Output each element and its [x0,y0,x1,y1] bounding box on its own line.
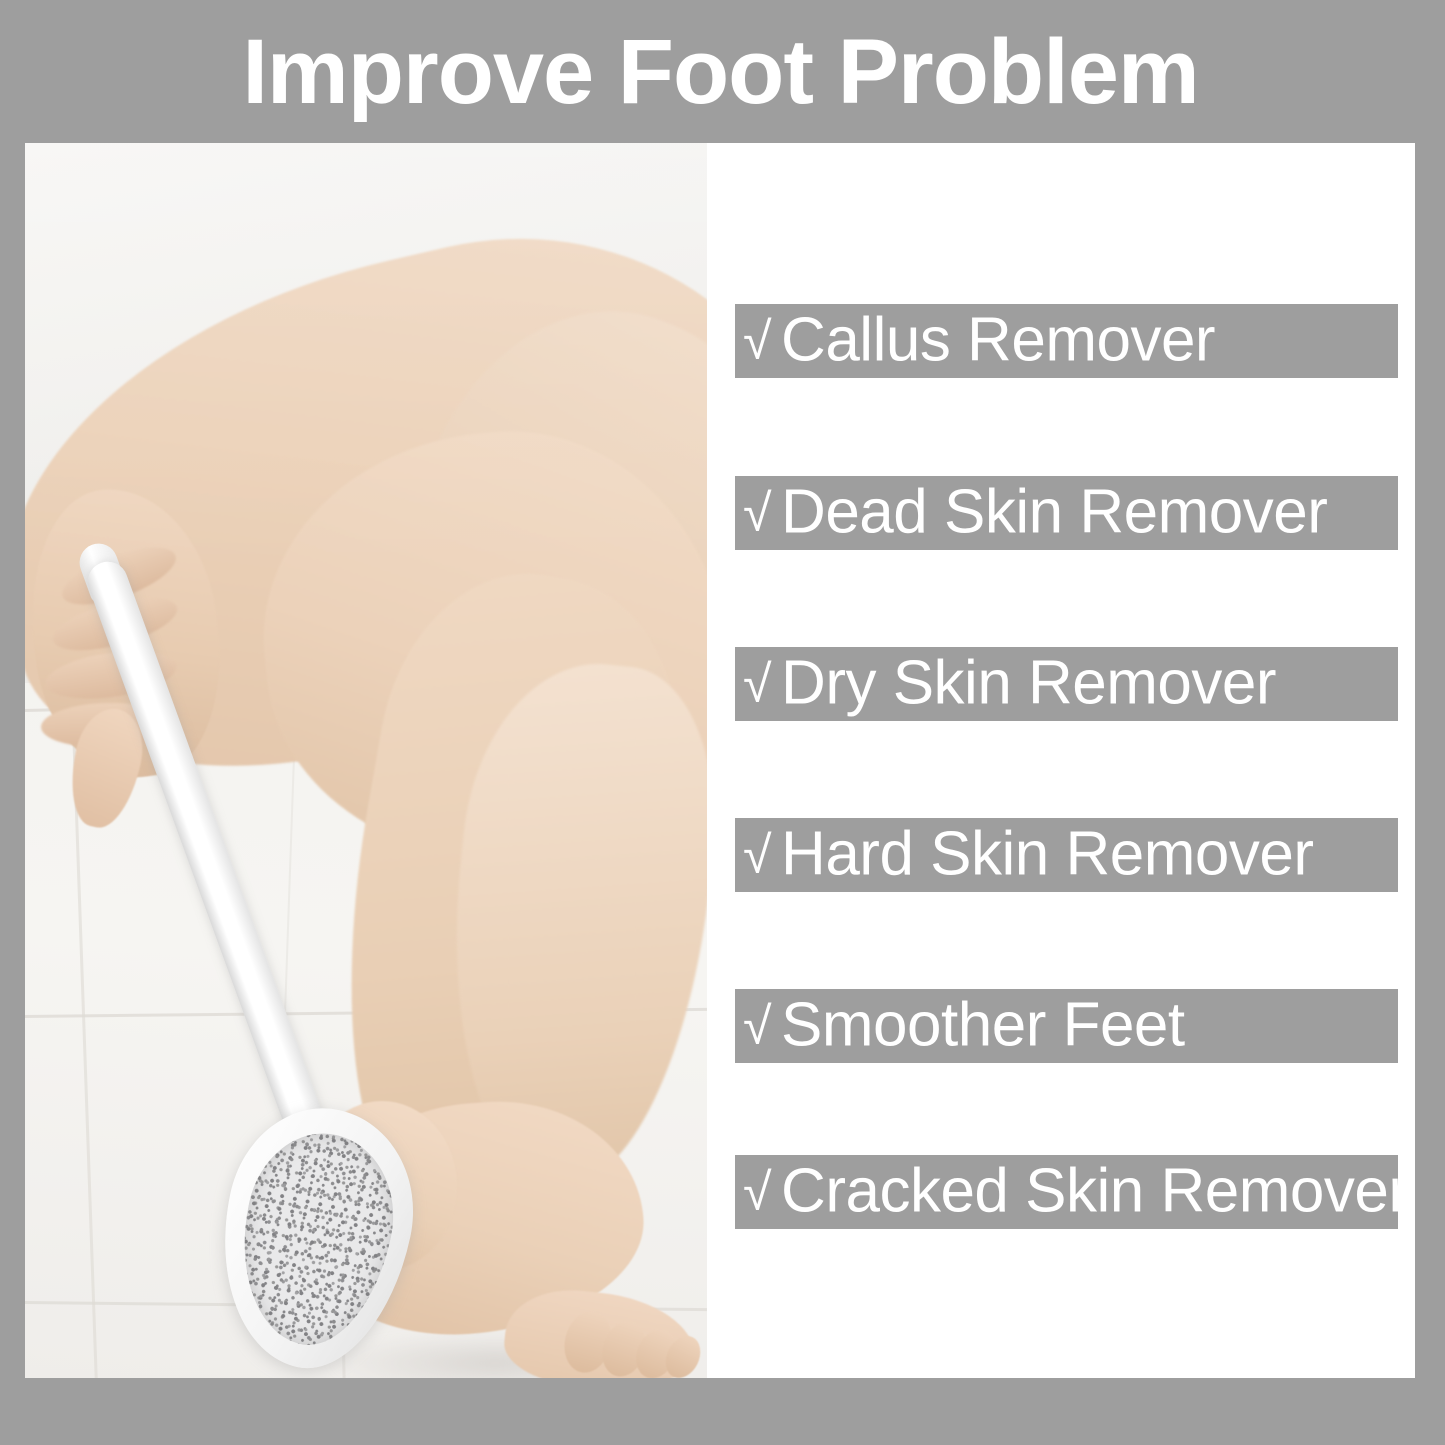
feature-label: √Smoother Feet [743,995,1185,1058]
feature-label: √Dry Skin Remover [743,653,1276,716]
content-panel: √Callus Remover √Dead Skin Remover √Dry … [25,143,1415,1378]
feature-text: Callus Remover [781,306,1215,375]
poster-canvas: Improve Foot Problem [0,0,1445,1445]
feature-list: √Callus Remover √Dead Skin Remover √Dry … [707,143,1415,1378]
check-icon: √ [743,313,781,371]
feature-item-callus-remover: √Callus Remover [735,304,1398,378]
check-icon: √ [743,827,781,885]
feature-label: √Cracked Skin Remover [743,1161,1408,1224]
check-icon: √ [743,485,781,543]
feature-text: Dead Skin Remover [781,478,1327,547]
feature-text: Cracked Skin Remover [781,1157,1408,1226]
check-icon: √ [743,998,781,1056]
check-icon: √ [743,1164,781,1222]
feature-item-hard-skin-remover: √Hard Skin Remover [735,818,1398,892]
feature-text: Smoother Feet [781,991,1185,1060]
feature-item-dry-skin-remover: √Dry Skin Remover [735,647,1398,721]
page-title: Improve Foot Problem [0,16,1445,128]
check-icon: √ [743,656,781,714]
product-photo [25,143,707,1378]
feature-label: √Dead Skin Remover [743,482,1327,545]
feature-text: Dry Skin Remover [781,649,1276,718]
feature-label: √Callus Remover [743,310,1215,373]
feature-item-cracked-skin-remover: √Cracked Skin Remover [735,1155,1398,1229]
feature-item-dead-skin-remover: √Dead Skin Remover [735,476,1398,550]
feature-item-smoother-feet: √Smoother Feet [735,989,1398,1063]
feature-label: √Hard Skin Remover [743,824,1314,887]
feature-text: Hard Skin Remover [781,820,1313,889]
